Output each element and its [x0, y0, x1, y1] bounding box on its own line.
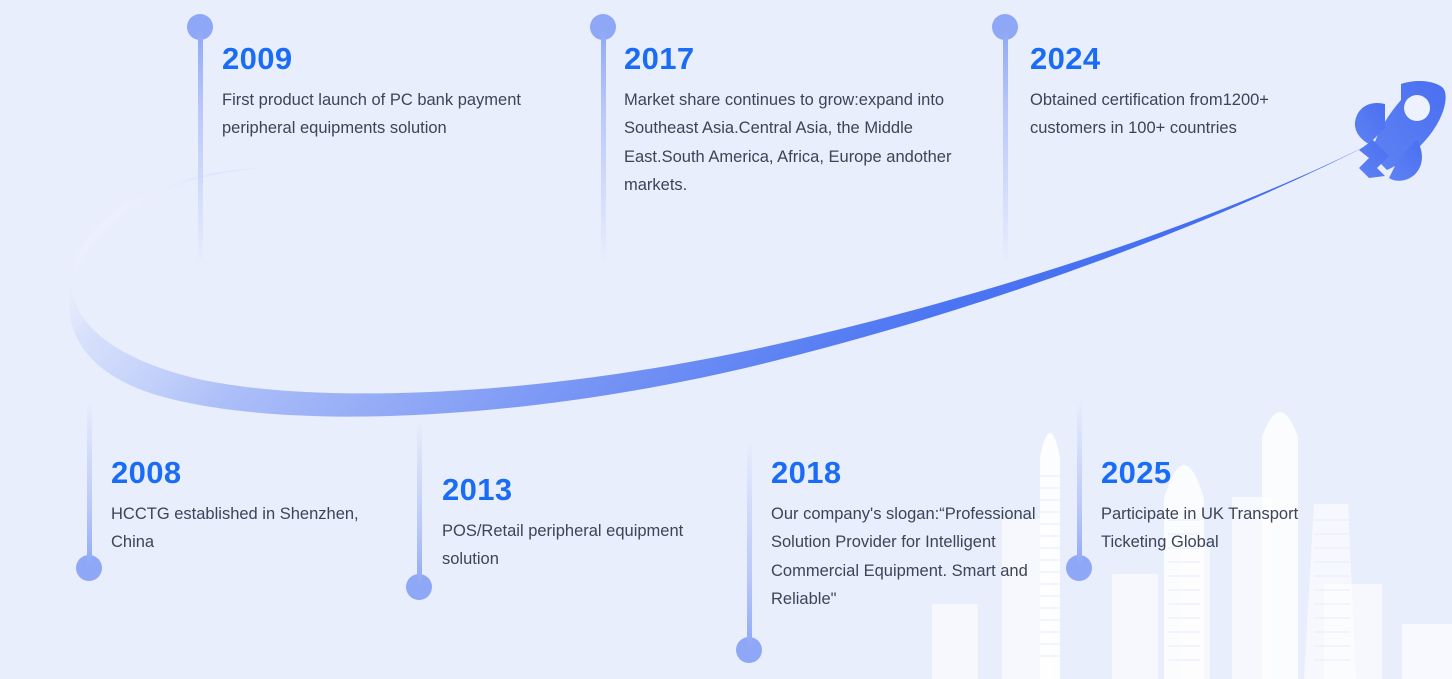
- timeline-infographic: 2009 First product launch of PC bank pay…: [0, 0, 1452, 679]
- milestone-year-2008: 2008: [111, 456, 401, 490]
- milestone-description-2024: Obtained certification from1200+ custome…: [1030, 86, 1330, 143]
- milestone-description-2008: HCCTG established in Shenzhen, China: [111, 500, 401, 557]
- milestone-year-2017: 2017: [624, 42, 976, 76]
- milestone-stem: [601, 27, 606, 264]
- milestone-entry-2008: 2008 HCCTG established in Shenzhen, Chin…: [111, 456, 401, 557]
- milestone-stem: [198, 27, 203, 264]
- milestone-description-2025: Participate in UK Transport Ticketing Gl…: [1101, 500, 1346, 557]
- milestone-stem: [747, 440, 752, 650]
- milestone-entry-2013: 2013 POS/Retail peripheral equipment sol…: [442, 473, 692, 574]
- milestone-description-2018: Our company's slogan:“Professional Solut…: [771, 500, 1039, 614]
- rocket-icon: [1355, 81, 1446, 181]
- milestone-description-2009: First product launch of PC bank payment …: [222, 86, 582, 143]
- milestone-entry-2025: 2025 Participate in UK Transport Ticketi…: [1101, 456, 1346, 557]
- milestone-description-2013: POS/Retail peripheral equipment solution: [442, 517, 692, 574]
- milestone-year-2025: 2025: [1101, 456, 1346, 490]
- milestone-stem: [1077, 400, 1082, 568]
- milestone-stem: [417, 420, 422, 587]
- milestone-year-2009: 2009: [222, 42, 582, 76]
- milestone-stem: [87, 400, 92, 568]
- milestone-entry-2018: 2018 Our company's slogan:“Professional …: [771, 456, 1039, 614]
- milestone-year-2018: 2018: [771, 456, 1039, 490]
- milestone-description-2017: Market share continues to grow:expand in…: [624, 86, 976, 200]
- milestone-year-2013: 2013: [442, 473, 692, 507]
- milestone-stem: [1003, 27, 1008, 264]
- milestone-entry-2017: 2017 Market share continues to grow:expa…: [624, 42, 976, 200]
- milestone-entry-2024: 2024 Obtained certification from1200+ cu…: [1030, 42, 1330, 143]
- milestone-year-2024: 2024: [1030, 42, 1330, 76]
- milestone-entry-2009: 2009 First product launch of PC bank pay…: [222, 42, 582, 143]
